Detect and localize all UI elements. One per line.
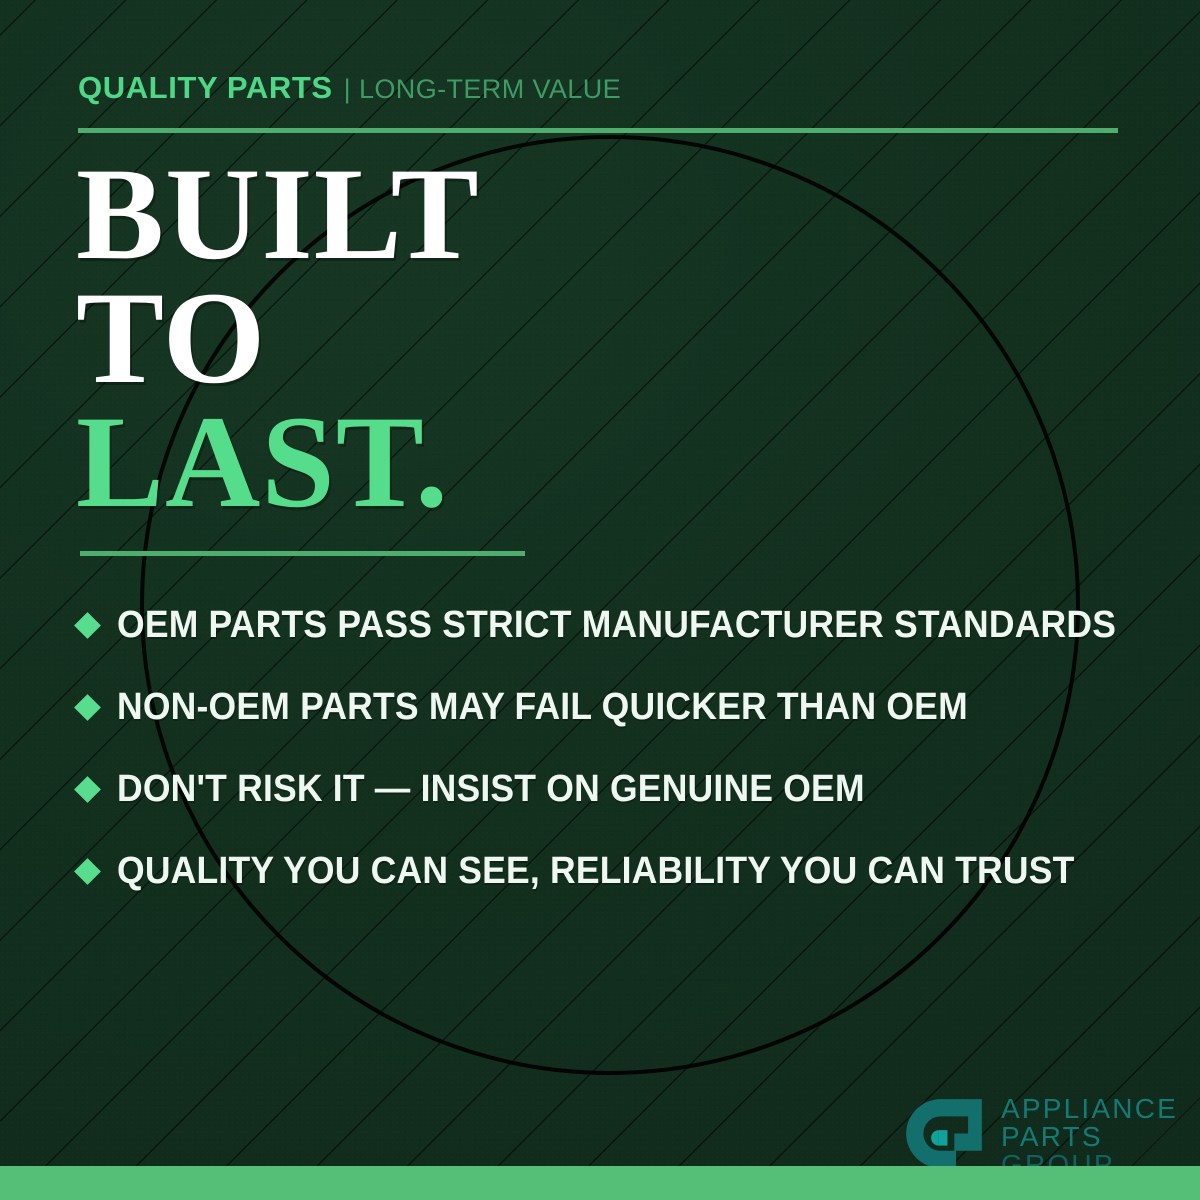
- diamond-bullet-icon: [74, 612, 101, 639]
- benefit-list: OEM PARTS PASS STRICT MANUFACTURER STAND…: [78, 584, 1140, 912]
- eyebrow-divider-rule: [78, 128, 1118, 133]
- list-item-label: OEM PARTS PASS STRICT MANUFACTURER STAND…: [117, 606, 1116, 644]
- headline-line-2: TO: [76, 276, 480, 400]
- headline-line-1: BUILT: [76, 152, 480, 276]
- eyebrow-main-label: QUALITY PARTS: [78, 72, 333, 103]
- diamond-bullet-icon: [74, 694, 101, 721]
- diamond-bullet-icon: [74, 858, 101, 885]
- list-item-label: QUALITY YOU CAN SEE, RELIABILITY YOU CAN…: [117, 852, 1074, 890]
- headline-divider-rule: [80, 551, 525, 556]
- brand-line-1: APPLIANCE: [1001, 1095, 1178, 1123]
- list-item: QUALITY YOU CAN SEE, RELIABILITY YOU CAN…: [78, 830, 1140, 912]
- list-item: OEM PARTS PASS STRICT MANUFACTURER STAND…: [78, 584, 1140, 666]
- headline-line-3: LAST.: [76, 400, 480, 524]
- page-title: BUILT TO LAST.: [76, 152, 480, 524]
- poster-content: QUALITY PARTS | LONG-TERM VALUE BUILT TO…: [0, 0, 1200, 1200]
- bottom-accent-bar: [0, 1166, 1200, 1200]
- eyebrow: QUALITY PARTS | LONG-TERM VALUE: [78, 72, 621, 103]
- brand-line-2: PARTS: [1001, 1123, 1178, 1151]
- list-item: NON-OEM PARTS MAY FAIL QUICKER THAN OEM: [78, 666, 1140, 748]
- list-item-label: NON-OEM PARTS MAY FAIL QUICKER THAN OEM: [117, 688, 968, 726]
- list-item: DON'T RISK IT — INSIST ON GENUINE OEM: [78, 748, 1140, 830]
- promo-poster: QUALITY PARTS | LONG-TERM VALUE BUILT TO…: [0, 0, 1200, 1200]
- list-item-label: DON'T RISK IT — INSIST ON GENUINE OEM: [117, 770, 865, 808]
- diamond-bullet-icon: [74, 776, 101, 803]
- eyebrow-sub-label: | LONG-TERM VALUE: [344, 76, 621, 103]
